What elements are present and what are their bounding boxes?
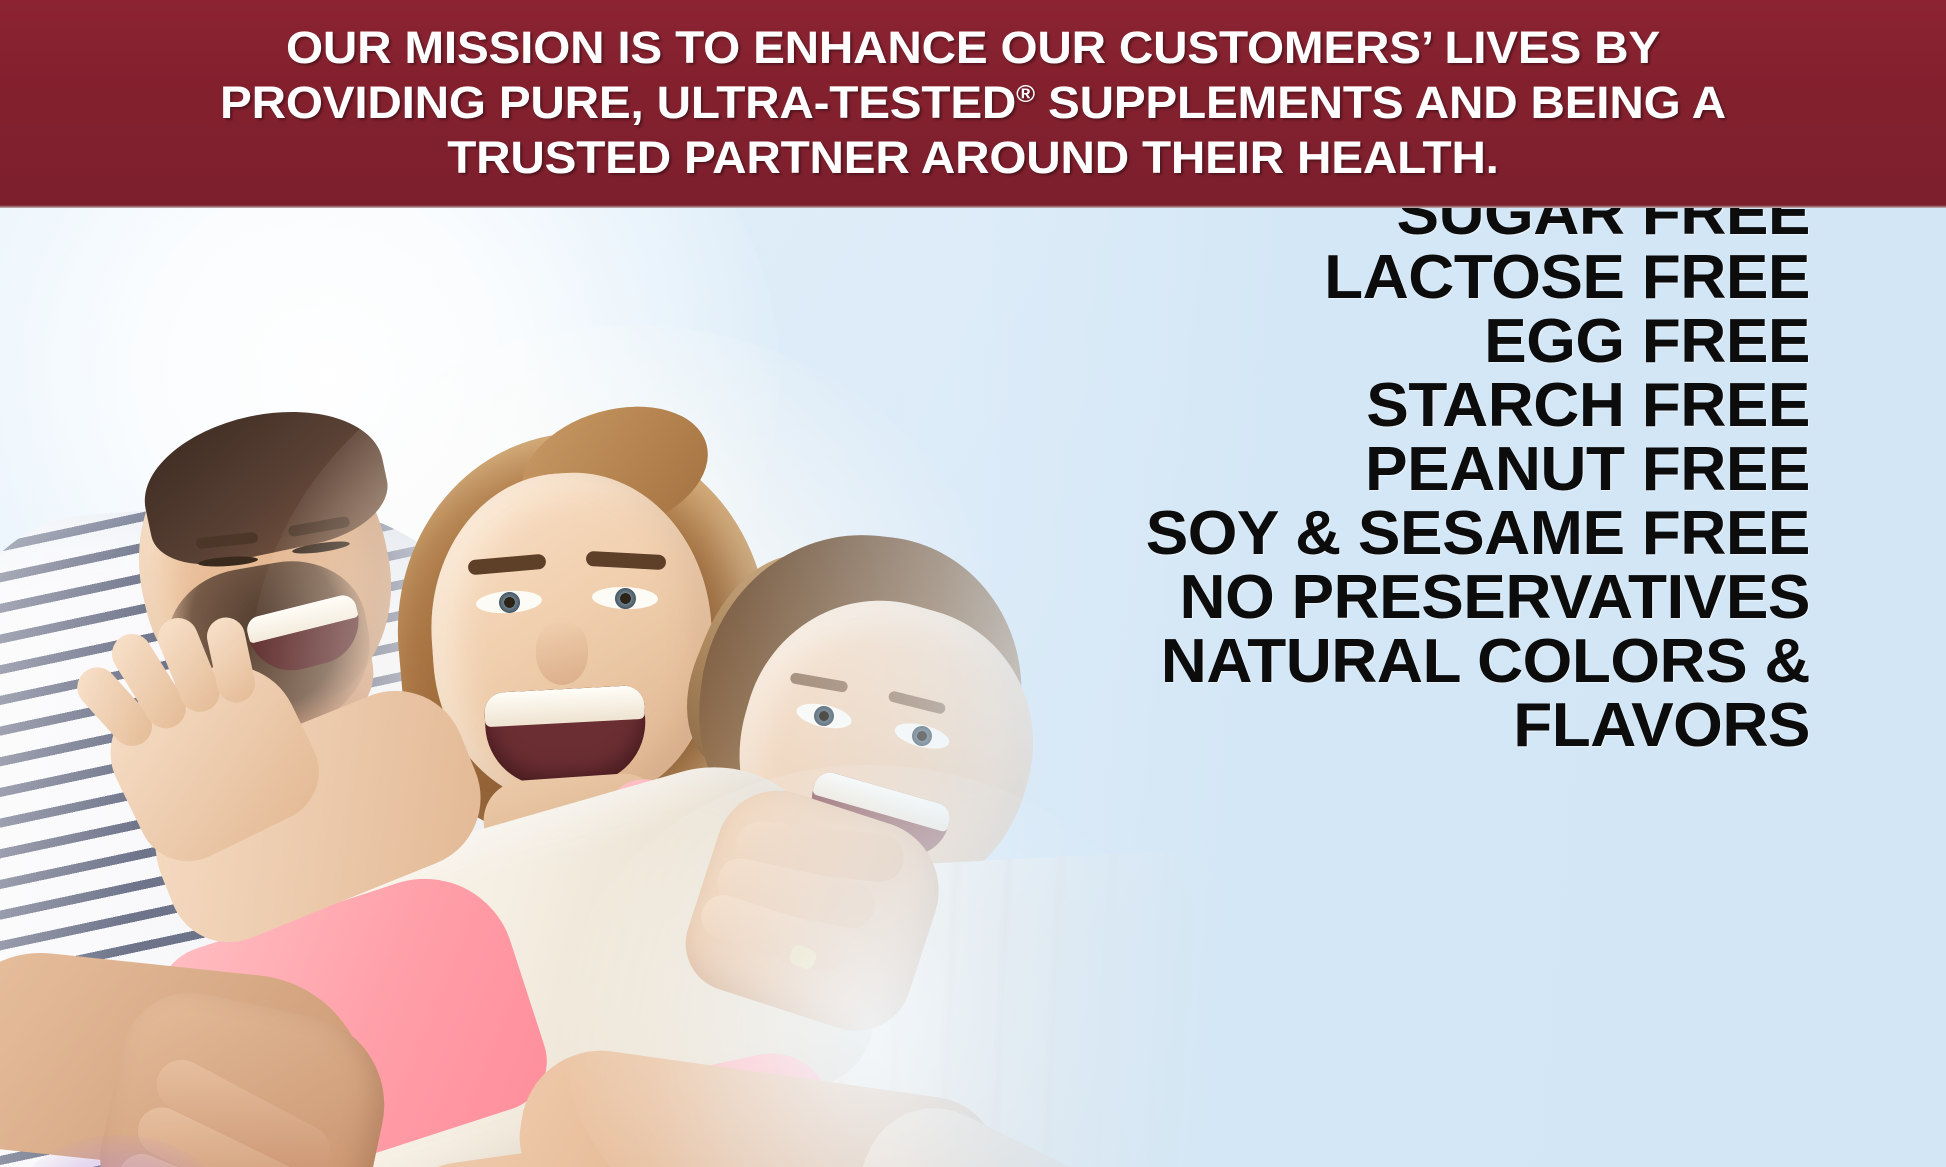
marketing-banner: OUR MISSION IS TO ENHANCE OUR CUSTOMERS’… xyxy=(0,0,1946,1167)
band-bottom-edge xyxy=(0,205,1946,208)
woman-nose xyxy=(536,623,588,685)
product-claim-item: NO PRESERVATIVES xyxy=(698,566,1810,630)
mission-statement-text: OUR MISSION IS TO ENHANCE OUR CUSTOMERS’… xyxy=(0,20,1946,185)
product-claim-item: SOY & SESAME FREE xyxy=(698,502,1810,566)
product-claim-item: STARCH FREE xyxy=(698,374,1810,438)
product-claim-item: PEANUT FREE xyxy=(698,438,1810,502)
product-claim-item: LACTOSE FREE xyxy=(698,246,1810,310)
product-claim-item: FLAVORS xyxy=(698,694,1810,758)
products-claims-list: GLUTEN FREESUGAR FREELACTOSE FREEEGG FRE… xyxy=(730,118,1810,758)
product-claim-item: EGG FREE xyxy=(698,310,1810,374)
product-claim-item: NATURAL COLORS & xyxy=(698,630,1810,694)
mission-statement-band: OUR MISSION IS TO ENHANCE OUR CUSTOMERS’… xyxy=(0,0,1946,205)
woman-iris-right xyxy=(615,588,637,610)
woman-teeth xyxy=(484,685,646,727)
woman-iris-left xyxy=(498,591,520,613)
registered-trademark-symbol: ® xyxy=(1016,81,1035,108)
